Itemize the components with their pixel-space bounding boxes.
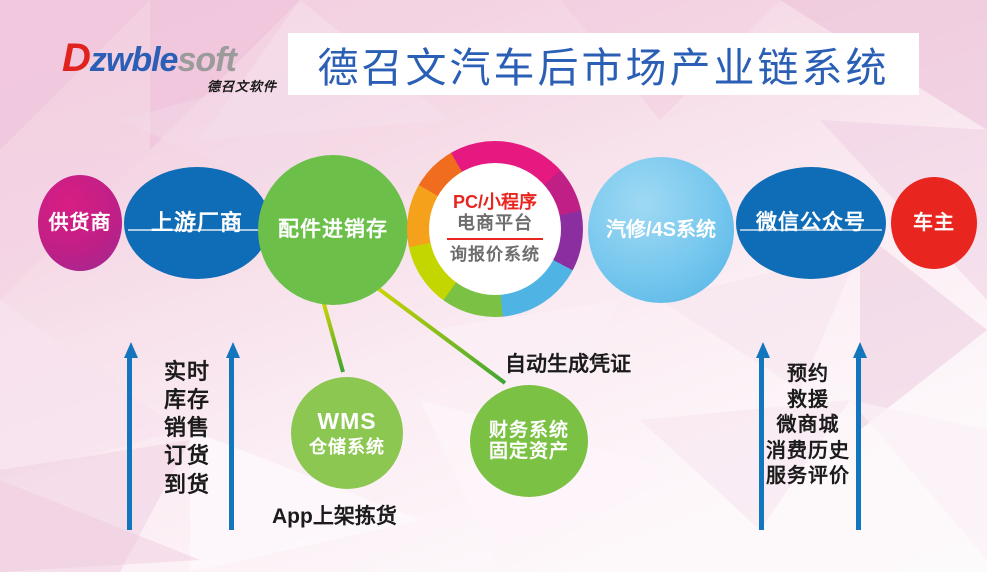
arrow-up-left-outer — [124, 342, 134, 530]
right-services-column: 预约 救援 微商城 消费历史 服务评价 — [762, 362, 854, 490]
node-wechat-label: 微信公众号 — [756, 211, 866, 235]
page-title: 德召文汽车后市场产业链系统 — [318, 34, 890, 94]
hub-line3: 询报价系统 — [450, 245, 540, 265]
slide-canvas: Dzwblesoft 德召文软件 德召文汽车后市场产业链系统 供货商 上游厂商 … — [0, 0, 987, 572]
logo-subtitle-cn: 德召文软件 — [207, 76, 277, 95]
node-car-owner[interactable]: 车主 — [891, 177, 977, 269]
arrow-up-right-inner — [853, 342, 863, 530]
node-owner-label: 车主 — [913, 212, 955, 234]
hub-center: PC/小程序 电商平台 询报价系统 — [429, 163, 561, 295]
node-wms[interactable]: WMS 仓储系统 — [291, 377, 403, 489]
hub-line2: 电商平台 — [457, 213, 533, 234]
node-wms-label-cn: 仓储系统 — [309, 437, 385, 457]
title-banner: 德召文汽车后市场产业链系统 — [288, 33, 919, 95]
node-upstream-label: 上游厂商 — [151, 211, 243, 236]
hub-donut-chart[interactable]: PC/小程序 电商平台 询报价系统 — [407, 141, 583, 317]
left-metrics-column: 实时 库存 销售 订货 到货 — [150, 358, 224, 499]
hub-divider — [447, 238, 543, 240]
node-parts-label: 配件进销存 — [278, 218, 388, 242]
logo-word-blue: zwble — [90, 41, 178, 79]
node-wechat-official[interactable]: 微信公众号 — [736, 167, 886, 279]
node-upstream-manufacturer[interactable]: 上游厂商 — [124, 167, 270, 279]
node-finance[interactable]: 财务系统 固定资产 — [470, 385, 588, 497]
label-app-shelf: App上架拣货 — [272, 500, 397, 530]
node-supplier[interactable]: 供货商 — [38, 175, 122, 271]
hub-line1: PC/小程序 — [453, 193, 537, 213]
node-supplier-label: 供货商 — [49, 212, 112, 234]
node-finance-label-line2: 固定资产 — [489, 441, 569, 462]
node-repair-label: 汽修/4S系统 — [606, 219, 716, 241]
node-finance-label-line1: 财务系统 — [489, 420, 569, 441]
logo-word-gray: soft — [177, 41, 235, 79]
arrow-up-left-inner — [226, 342, 236, 530]
brand-logo: Dzwblesoft 德召文软件 — [62, 38, 277, 100]
logo-letter-d: D — [62, 36, 90, 80]
node-repair-4s[interactable]: 汽修/4S系统 — [588, 157, 734, 303]
node-upstream-divider — [128, 229, 266, 231]
node-parts-inventory[interactable]: 配件进销存 — [258, 155, 408, 305]
logo-wordmark: Dzwblesoft — [62, 38, 277, 80]
label-auto-voucher: 自动生成凭证 — [505, 348, 631, 378]
node-wechat-divider — [740, 229, 882, 231]
node-wms-label-en: WMS — [309, 409, 385, 435]
